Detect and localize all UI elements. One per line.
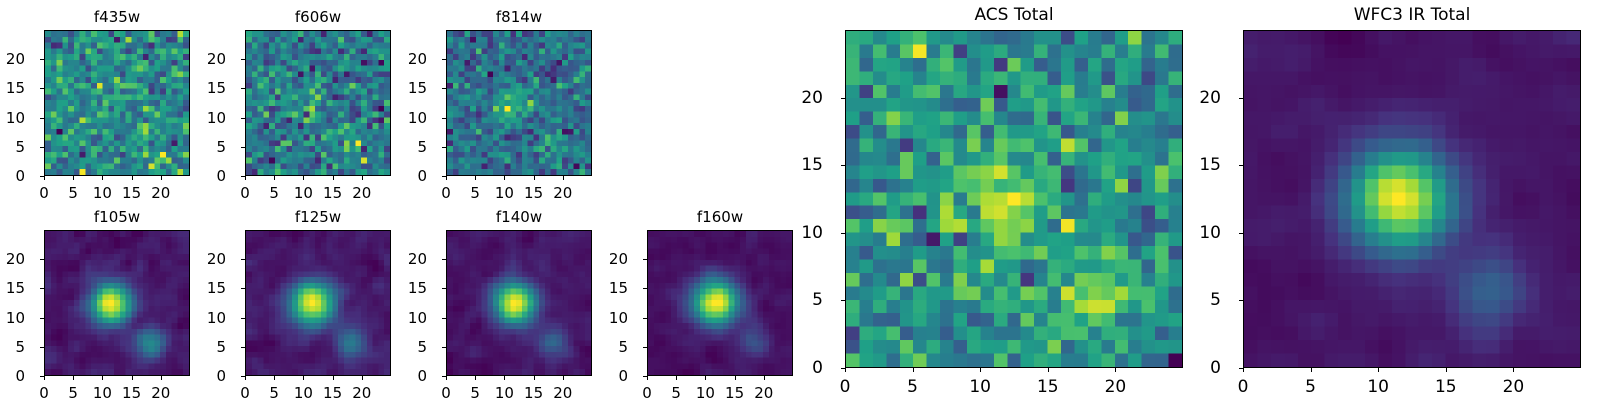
x-tick-mark (245, 176, 246, 180)
y-tick-mark (442, 147, 446, 148)
y-tick-mark (841, 368, 845, 369)
x-tick-mark (73, 376, 74, 380)
y-tick-label: 0 (192, 167, 226, 185)
heatmap-image-f606w (245, 30, 391, 176)
x-tick-mark (1115, 368, 1116, 372)
panel-f160w: f160w0055101015152020 (647, 230, 793, 376)
x-tick-label: 20 (151, 384, 170, 402)
y-tick-mark (643, 288, 647, 289)
x-tick-mark (161, 176, 162, 180)
y-tick-label: 15 (1187, 155, 1221, 175)
heatmap-image-f140w (446, 230, 592, 376)
y-tick-mark (241, 59, 245, 60)
y-tick-mark (841, 165, 845, 166)
y-tick-label: 5 (192, 138, 226, 156)
panel-title-f140w: f140w (446, 208, 592, 226)
y-tick-label: 10 (192, 109, 226, 127)
panel-title-f814w: f814w (446, 8, 592, 26)
y-tick-mark (643, 259, 647, 260)
y-tick-label: 10 (789, 223, 823, 243)
panel-title-f105w: f105w (44, 208, 190, 226)
x-tick-label: 20 (151, 184, 170, 202)
x-tick-label: 10 (969, 377, 991, 397)
y-tick-mark (643, 347, 647, 348)
x-tick-label: 5 (68, 184, 78, 202)
y-tick-mark (241, 88, 245, 89)
x-tick-label: 10 (93, 184, 112, 202)
x-tick-label: 0 (840, 377, 851, 397)
heatmap-image-f125w (245, 230, 391, 376)
y-tick-mark (442, 176, 446, 177)
y-tick-label: 20 (594, 250, 628, 268)
y-tick-label: 0 (0, 167, 25, 185)
x-tick-label: 5 (1305, 377, 1316, 397)
x-tick-mark (705, 376, 706, 380)
x-tick-mark (132, 376, 133, 380)
heatmap-image-f435w (44, 30, 190, 176)
heatmap-image-f105w (44, 230, 190, 376)
y-tick-label: 5 (0, 138, 25, 156)
x-tick-label: 0 (240, 384, 250, 402)
x-tick-mark (913, 368, 914, 372)
x-tick-mark (1048, 368, 1049, 372)
panel-title-acs-total: ACS Total (845, 5, 1183, 25)
y-tick-mark (40, 118, 44, 119)
y-tick-mark (442, 288, 446, 289)
y-tick-mark (643, 376, 647, 377)
y-tick-label: 10 (393, 109, 427, 127)
y-tick-mark (241, 259, 245, 260)
y-tick-label: 20 (393, 50, 427, 68)
y-tick-label: 15 (192, 279, 226, 297)
y-tick-mark (241, 318, 245, 319)
x-tick-label: 15 (1435, 377, 1457, 397)
x-tick-mark (534, 376, 535, 380)
heatmap-canvas-f435w (45, 31, 189, 175)
y-tick-label: 5 (192, 338, 226, 356)
y-tick-label: 15 (393, 279, 427, 297)
x-tick-mark (161, 376, 162, 380)
heatmap-canvas-f105w (45, 231, 189, 375)
x-tick-label: 0 (1238, 377, 1249, 397)
x-tick-mark (132, 176, 133, 180)
x-tick-label: 10 (93, 384, 112, 402)
x-tick-mark (333, 176, 334, 180)
y-tick-mark (241, 376, 245, 377)
y-tick-label: 5 (789, 290, 823, 310)
x-tick-label: 20 (1503, 377, 1525, 397)
x-tick-mark (303, 176, 304, 180)
y-tick-mark (1239, 368, 1243, 369)
heatmap-image-acs-total (845, 30, 1183, 368)
y-tick-label: 20 (789, 88, 823, 108)
x-tick-mark (1243, 368, 1244, 372)
x-tick-label: 20 (553, 184, 572, 202)
x-tick-label: 5 (68, 384, 78, 402)
y-tick-mark (40, 176, 44, 177)
x-tick-label: 15 (323, 384, 342, 402)
y-tick-label: 15 (393, 79, 427, 97)
y-tick-label: 20 (0, 250, 25, 268)
y-tick-label: 10 (0, 309, 25, 327)
x-tick-label: 10 (696, 384, 715, 402)
x-tick-label: 0 (39, 184, 49, 202)
y-tick-mark (241, 288, 245, 289)
y-tick-label: 5 (1187, 290, 1221, 310)
panel-f140w: f140w0055101015152020 (446, 230, 592, 376)
y-tick-mark (40, 59, 44, 60)
x-tick-mark (446, 376, 447, 380)
y-tick-mark (442, 59, 446, 60)
y-tick-mark (643, 318, 647, 319)
y-tick-mark (40, 288, 44, 289)
y-tick-label: 20 (192, 50, 226, 68)
y-tick-label: 10 (192, 309, 226, 327)
panel-f606w: f606w0055101015152020 (245, 30, 391, 176)
x-tick-mark (44, 176, 45, 180)
x-tick-label: 10 (294, 184, 313, 202)
panel-f814w: f814w0055101015152020 (446, 30, 592, 176)
x-tick-label: 20 (352, 184, 371, 202)
x-tick-label: 20 (553, 384, 572, 402)
x-tick-mark (504, 176, 505, 180)
x-tick-mark (647, 376, 648, 380)
y-tick-mark (841, 300, 845, 301)
y-tick-label: 0 (192, 367, 226, 385)
y-tick-mark (1239, 98, 1243, 99)
y-tick-label: 0 (789, 358, 823, 378)
x-tick-mark (504, 376, 505, 380)
x-tick-mark (764, 376, 765, 380)
y-tick-label: 15 (192, 79, 226, 97)
y-tick-label: 5 (594, 338, 628, 356)
x-tick-mark (44, 376, 45, 380)
heatmap-image-wfc3-ir-total (1243, 30, 1581, 368)
y-tick-mark (841, 233, 845, 234)
y-tick-mark (442, 318, 446, 319)
x-tick-mark (303, 376, 304, 380)
x-tick-mark (980, 368, 981, 372)
x-tick-mark (1513, 368, 1514, 372)
panel-title-f125w: f125w (245, 208, 391, 226)
x-tick-label: 5 (269, 184, 279, 202)
figure-canvas: f435w0055101015152020f606w00551010151520… (0, 0, 1600, 400)
x-tick-label: 10 (1367, 377, 1389, 397)
y-tick-label: 20 (393, 250, 427, 268)
heatmap-canvas-f140w (447, 231, 591, 375)
x-tick-mark (274, 376, 275, 380)
x-tick-mark (676, 376, 677, 380)
x-tick-mark (274, 176, 275, 180)
x-tick-label: 20 (754, 384, 773, 402)
x-tick-mark (563, 376, 564, 380)
y-tick-mark (241, 147, 245, 148)
y-tick-label: 10 (393, 309, 427, 327)
y-tick-mark (40, 259, 44, 260)
x-tick-label: 0 (642, 384, 652, 402)
heatmap-canvas-f160w (648, 231, 792, 375)
x-tick-label: 0 (441, 184, 451, 202)
x-tick-label: 15 (1037, 377, 1059, 397)
x-tick-label: 20 (1105, 377, 1127, 397)
heatmap-canvas-f606w (246, 31, 390, 175)
y-tick-mark (442, 259, 446, 260)
y-tick-mark (241, 176, 245, 177)
x-tick-label: 10 (294, 384, 313, 402)
y-tick-label: 15 (0, 79, 25, 97)
x-tick-label: 15 (725, 384, 744, 402)
x-tick-label: 5 (470, 184, 480, 202)
panel-title-f606w: f606w (245, 8, 391, 26)
x-tick-label: 5 (470, 384, 480, 402)
x-tick-label: 0 (39, 384, 49, 402)
x-tick-label: 0 (240, 184, 250, 202)
x-tick-mark (102, 376, 103, 380)
x-tick-label: 5 (269, 384, 279, 402)
y-tick-label: 0 (393, 367, 427, 385)
y-tick-label: 0 (0, 367, 25, 385)
heatmap-canvas-acs-total (846, 31, 1182, 367)
heatmap-canvas-f814w (447, 31, 591, 175)
y-tick-label: 10 (0, 109, 25, 127)
x-tick-mark (845, 368, 846, 372)
x-tick-mark (475, 376, 476, 380)
heatmap-image-f160w (647, 230, 793, 376)
x-tick-mark (534, 176, 535, 180)
y-tick-label: 20 (192, 250, 226, 268)
y-tick-mark (241, 118, 245, 119)
y-tick-label: 20 (1187, 88, 1221, 108)
y-tick-label: 15 (789, 155, 823, 175)
y-tick-mark (1239, 165, 1243, 166)
panel-f125w: f125w0055101015152020 (245, 230, 391, 376)
x-tick-mark (1378, 368, 1379, 372)
y-tick-mark (40, 88, 44, 89)
y-tick-label: 0 (393, 167, 427, 185)
y-tick-label: 0 (594, 367, 628, 385)
y-tick-mark (442, 376, 446, 377)
x-tick-mark (102, 176, 103, 180)
y-tick-mark (40, 376, 44, 377)
x-tick-label: 15 (323, 184, 342, 202)
y-tick-label: 5 (393, 338, 427, 356)
y-tick-mark (40, 318, 44, 319)
x-tick-mark (475, 176, 476, 180)
x-tick-label: 15 (524, 184, 543, 202)
x-tick-mark (563, 176, 564, 180)
x-tick-mark (245, 376, 246, 380)
x-tick-mark (333, 376, 334, 380)
panel-title-wfc3-ir-total: WFC3 IR Total (1243, 5, 1581, 25)
y-tick-mark (442, 88, 446, 89)
y-tick-label: 15 (594, 279, 628, 297)
x-tick-mark (735, 376, 736, 380)
panel-title-f435w: f435w (44, 8, 190, 26)
y-tick-label: 5 (0, 338, 25, 356)
x-tick-label: 5 (671, 384, 681, 402)
y-tick-mark (442, 347, 446, 348)
y-tick-label: 0 (1187, 358, 1221, 378)
x-tick-mark (1311, 368, 1312, 372)
x-tick-mark (446, 176, 447, 180)
y-tick-label: 20 (0, 50, 25, 68)
y-tick-label: 15 (0, 279, 25, 297)
y-tick-label: 10 (594, 309, 628, 327)
x-tick-label: 15 (122, 384, 141, 402)
y-tick-mark (40, 347, 44, 348)
heatmap-canvas-f125w (246, 231, 390, 375)
panel-title-f160w: f160w (647, 208, 793, 226)
y-tick-mark (40, 147, 44, 148)
y-tick-mark (442, 118, 446, 119)
x-tick-label: 0 (441, 384, 451, 402)
x-tick-label: 5 (907, 377, 918, 397)
y-tick-label: 5 (393, 138, 427, 156)
x-tick-mark (1446, 368, 1447, 372)
x-tick-mark (73, 176, 74, 180)
x-tick-label: 20 (352, 384, 371, 402)
x-tick-mark (362, 376, 363, 380)
x-tick-label: 15 (122, 184, 141, 202)
y-tick-label: 10 (1187, 223, 1221, 243)
x-tick-label: 15 (524, 384, 543, 402)
y-tick-mark (1239, 300, 1243, 301)
x-tick-label: 10 (495, 384, 514, 402)
x-tick-mark (362, 176, 363, 180)
y-tick-mark (1239, 233, 1243, 234)
panel-f435w: f435w0055101015152020 (44, 30, 190, 176)
heatmap-image-f814w (446, 30, 592, 176)
panel-f105w: f105w0055101015152020 (44, 230, 190, 376)
panel-acs-total: ACS Total0055101015152020 (845, 30, 1183, 368)
y-tick-mark (241, 347, 245, 348)
heatmap-canvas-wfc3-ir-total (1244, 31, 1580, 367)
panel-wfc3-ir-total: WFC3 IR Total0055101015152020 (1243, 30, 1581, 368)
y-tick-mark (841, 98, 845, 99)
x-tick-label: 10 (495, 184, 514, 202)
